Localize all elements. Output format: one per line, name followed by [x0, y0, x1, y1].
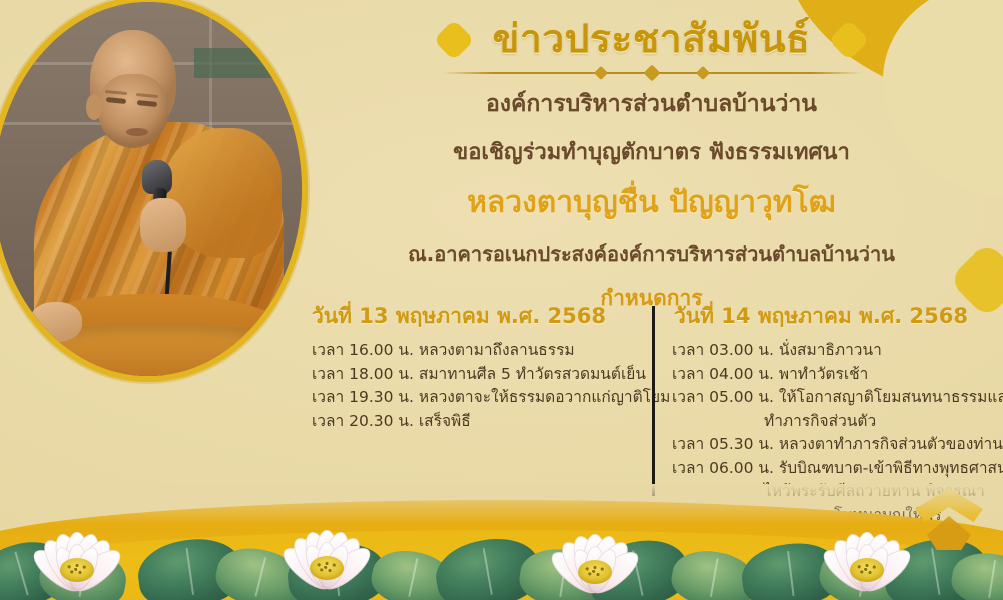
invitation-line: ขอเชิญร่วมทำบุญตักบาตร ฟังธรรมเทศนา — [300, 134, 1003, 169]
list-item-continuation: ทำภารกิจส่วนตัว — [672, 410, 1003, 434]
monk-portrait-photo — [0, 0, 308, 382]
day1-heading: วันที่ 13 พฤษภาคม พ.ศ. 2568 — [300, 300, 634, 333]
schedule-column-day1: วันที่ 13 พฤษภาคม พ.ศ. 2568 เวลา 16.00 น… — [300, 300, 652, 505]
monk-name: หลวงตาบุญชื่น ปัญญาวุทโฒ — [300, 179, 1003, 226]
quatrefoil-flower-icon — [832, 23, 866, 57]
list-item: เวลา 16.00 น. หลวงตามาถึงลานธรรม — [300, 339, 634, 363]
list-item: เวลา 05.00 น. ให้โอกาสญาติโยมสนทนาธรรมแล… — [672, 386, 1003, 433]
list-item: เวลา 05.30 น. หลวงตาทำภารกิจส่วนตัวของท่… — [672, 433, 1003, 457]
photo-monk-hand — [140, 198, 186, 252]
list-item: เวลา 03.00 น. นั่งสมาธิภาวนา — [672, 339, 1003, 363]
list-item-text: เวลา 05.00 น. ให้โอกาสญาติโยมสนทนาธรรมแล… — [672, 388, 1003, 406]
title-row: ข่าวประชาสัมพันธ์ — [300, 18, 1003, 63]
day2-heading: วันที่ 14 พฤษภาคม พ.ศ. 2568 — [672, 300, 1003, 333]
photo-monk-ear — [86, 94, 102, 120]
header-block: ข่าวประชาสัมพันธ์ องค์การบริหารส่วนตำบลบ… — [300, 18, 1003, 315]
page-title: ข่าวประชาสัมพันธ์ — [493, 18, 811, 63]
quatrefoil-flower-icon — [437, 23, 471, 57]
day1-item-list: เวลา 16.00 น. หลวงตามาถึงลานธรรม เวลา 18… — [300, 339, 634, 433]
photo-monk-mouth — [126, 128, 148, 136]
list-item: เวลา 04.00 น. พาทำวัตรเช้า — [672, 363, 1003, 387]
photo-monk-face — [98, 74, 168, 148]
photo-inner — [0, 2, 302, 376]
lotus-flower — [272, 508, 382, 594]
list-item: เวลา 20.30 น. เสร็จพิธี — [300, 410, 634, 434]
photo-monk-hand — [30, 302, 82, 342]
schedule-section: วันที่ 13 พฤษภาคม พ.ศ. 2568 เวลา 16.00 น… — [300, 300, 1003, 505]
lotus-flower — [812, 510, 922, 596]
list-item: เวลา 19.30 น. หลวงตาจะให้ธรรมดอวากแก่ญาต… — [300, 386, 634, 410]
title-ornament-rule — [442, 66, 862, 80]
lotus-flower — [22, 510, 132, 596]
list-item: เวลา 18.00 น. สมาทานศีล 5 ทำวัตรสวดมนต์เ… — [300, 363, 634, 387]
venue-line: ณ.อาคารอเนกประสงค์องค์การบริหารส่วนตำบลบ… — [300, 238, 1003, 270]
schedule-column-day2: วันที่ 14 พฤษภาคม พ.ศ. 2568 เวลา 03.00 น… — [652, 300, 1003, 505]
list-item-text: เวลา 06.00 น. รับบิณฑบาต-เข้าพิธีทางพุทธ… — [672, 459, 1003, 477]
lotus-flower-border — [0, 488, 1003, 600]
organization-name: องค์การบริหารส่วนตำบลบ้านว่าน — [300, 86, 1003, 122]
thai-pagoda-roof-icon — [911, 488, 987, 558]
poster-canvas: ข่าวประชาสัมพันธ์ องค์การบริหารส่วนตำบลบ… — [0, 0, 1003, 600]
photo-green-panel — [194, 48, 302, 78]
lotus-flower — [540, 512, 650, 598]
